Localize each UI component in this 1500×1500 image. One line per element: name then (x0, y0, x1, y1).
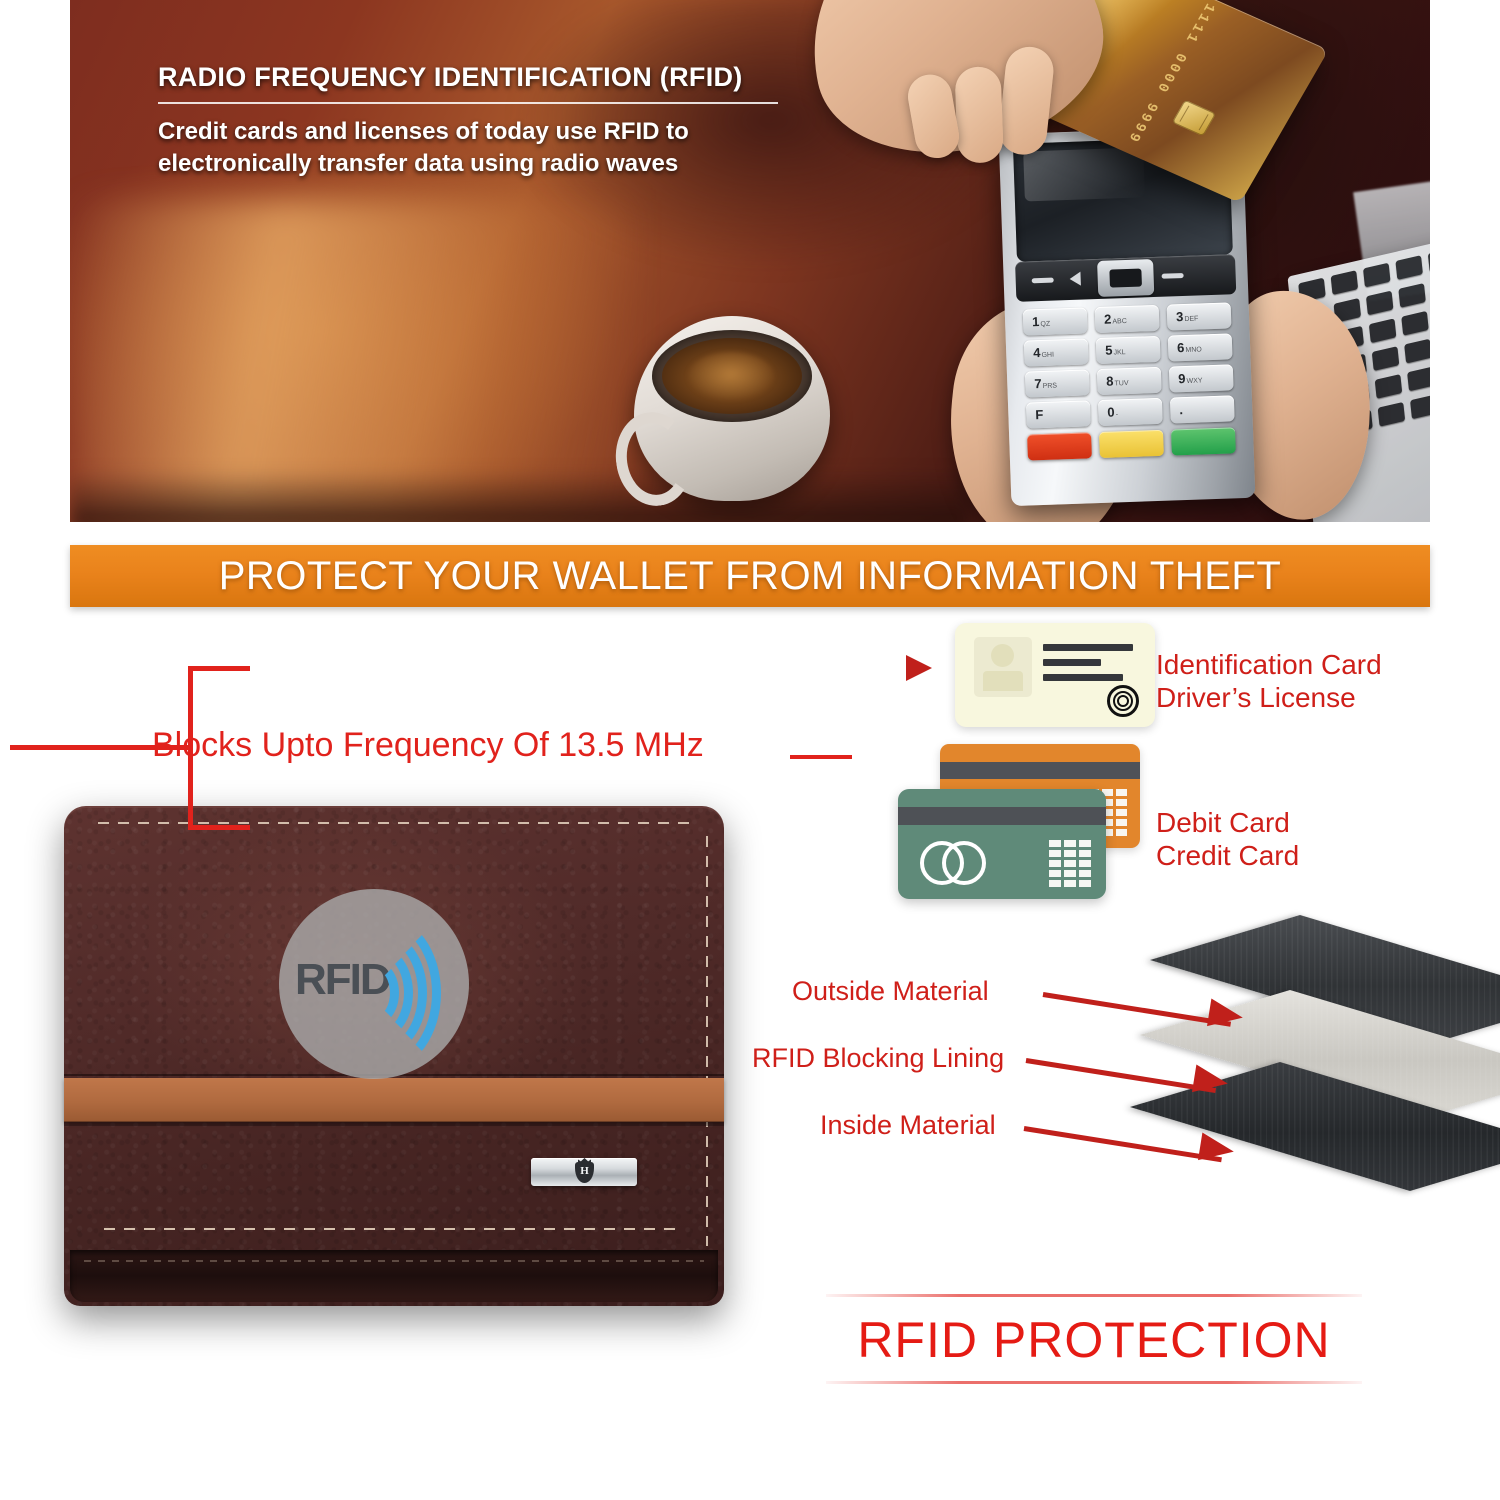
label-debit-card: Debit Card (1156, 806, 1299, 839)
rfid-logo-icon: RFID (279, 889, 469, 1079)
inside-material-arrow (1198, 1133, 1236, 1166)
magnetic-stripe (898, 807, 1106, 825)
brand-initial: H (580, 1166, 589, 1177)
lining-leader-line (1026, 1058, 1216, 1093)
outside-material-label: Outside Material (792, 976, 989, 1007)
lining-arrow (1192, 1065, 1230, 1098)
bracket-bottom-branch (188, 825, 250, 830)
rfid-protection-footer: RFID PROTECTION (826, 1294, 1362, 1384)
magnetic-stripe (940, 762, 1140, 779)
label-drivers-license: Driver’s License (1156, 681, 1382, 714)
outside-material-leader-line (1043, 992, 1231, 1027)
blocks-connector-line (790, 755, 852, 759)
wallet-fold-edge (70, 1250, 718, 1302)
rfid-chip-icon (1107, 685, 1139, 717)
terminal-correct-key (1099, 430, 1164, 458)
rfid-blocking-lining-label: RFID Blocking Lining (752, 1043, 1004, 1074)
hero-divider (158, 102, 778, 104)
label-credit-card: Credit Card (1156, 839, 1299, 872)
rfid-wallet-product-image: RFID H (64, 806, 724, 1306)
card-logo-circle-right (942, 841, 986, 885)
blocks-frequency-text: Blocks Upto Frequency Of 13.5 MHz (152, 726, 704, 765)
coffee-cup (630, 316, 834, 512)
wallet-top-stitching (98, 822, 690, 824)
identification-card-label: Identification Card Driver’s License (1156, 648, 1382, 714)
protect-banner-text: PROTECT YOUR WALLET FROM INFORMATION THE… (219, 554, 1282, 599)
id-photo-placeholder (974, 637, 1032, 697)
card-grid-pattern (1049, 840, 1091, 887)
terminal-navigation-bar (1015, 254, 1236, 302)
debit-card-label: Debit Card Credit Card (1156, 806, 1299, 872)
brand-metal-plate: H (531, 1158, 637, 1186)
bracket-vertical (188, 666, 193, 830)
footer-bottom-rule (826, 1381, 1362, 1384)
shield-icon: H (575, 1162, 594, 1183)
rfid-protection-text: RFID PROTECTION (826, 1297, 1362, 1381)
hero-subtitle: Credit cards and licenses of today use R… (158, 116, 818, 181)
bracket-top-branch (188, 666, 250, 671)
hero-title: RADIO FREQUENCY IDENTIFICATION (RFID) (158, 62, 818, 93)
wallet-bottom-stitching (104, 1228, 684, 1230)
arrow-to-id-card (906, 655, 932, 681)
identification-card-graphic (955, 623, 1155, 727)
inside-material-leader-line (1024, 1126, 1222, 1162)
outside-material-arrow (1207, 999, 1245, 1032)
label-identification-card: Identification Card (1156, 648, 1382, 681)
terminal-enter-key (1171, 427, 1236, 455)
counter-edge (70, 470, 970, 522)
terminal-keypad: 1QZ2ABC3DEF 4GHI5JKL6MNO 7PRS8TUV9WXY F0… (1023, 302, 1236, 460)
protect-banner: PROTECT YOUR WALLET FROM INFORMATION THE… (70, 545, 1430, 607)
inside-material-label: Inside Material (820, 1110, 996, 1141)
hero-headline-block: RADIO FREQUENCY IDENTIFICATION (RFID) Cr… (158, 62, 818, 181)
green-debit-card-graphic (898, 789, 1106, 899)
hero-photo-panel: 1QZ2ABC3DEF 4GHI5JKL6MNO 7PRS8TUV9WXY F0… (70, 0, 1430, 522)
wallet-side-stitching (706, 836, 708, 1246)
bracket-horizontal (10, 745, 192, 750)
wallet-tan-stripe (64, 1078, 724, 1122)
terminal-cancel-key (1027, 432, 1092, 460)
emv-chip-icon (1172, 100, 1216, 136)
